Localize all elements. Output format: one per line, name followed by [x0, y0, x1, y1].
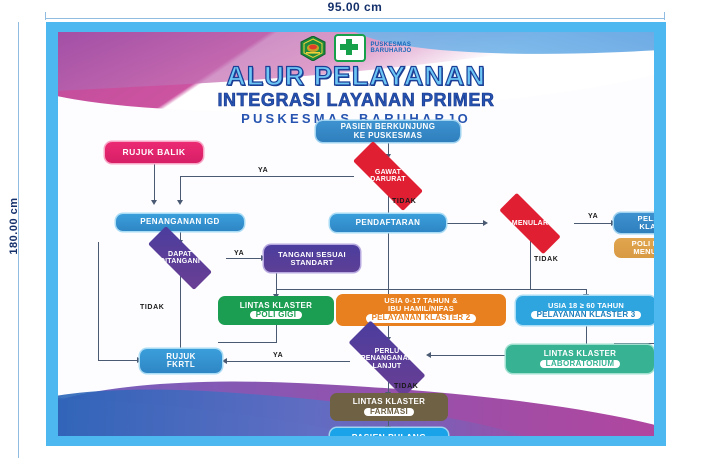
edge-label-ya-dapat: YA	[234, 250, 244, 257]
node-dapat-ditangani-line1: DAPAT	[160, 251, 200, 258]
node-tangani-sesuai-line2: STANDART	[290, 259, 333, 267]
poster-title-main: ALUR PELAYANAN	[58, 61, 654, 92]
node-pelayanan-klaster3[interactable]: USIA 18 ≥ 60 TAHUN PELAYANAN KLASTER 3	[516, 296, 654, 325]
node-lintas-klaster-farmasi[interactable]: LINTAS KLASTER FARMASI	[330, 393, 448, 421]
node-pelayanan-klaster4-line2: KLASTER 4	[639, 223, 654, 231]
node-dapat-ditangani[interactable]: DAPAT DITANGANI	[134, 240, 226, 276]
poster-header: PUSKESMAS BARUHARJO ALUR PELAYANAN INTEG…	[58, 34, 654, 126]
node-farmasi-pill: FARMASI	[364, 408, 414, 416]
node-tangani-sesuai-standart[interactable]: TANGANI SESUAI STANDART	[264, 245, 360, 272]
edge-poli-gigi-down	[276, 325, 277, 343]
edge-distribution-bar	[276, 289, 586, 290]
node-dapat-ditangani-label: DAPAT DITANGANI	[160, 251, 200, 266]
node-perlu-penanganan-lanjut[interactable]: PERLU PENANGANAN LANJUT	[332, 337, 442, 381]
node-penanganan-igd-label: PENANGANAN IGD	[140, 218, 219, 226]
edge-label-tidak-gawat: TIDAK	[392, 198, 416, 205]
ruler-left-bar	[18, 22, 19, 458]
node-klaster2-pill: PELAYANAN KLASTER 2	[366, 314, 477, 322]
edge-gawat-ya-horizontal	[180, 176, 354, 177]
ruler-top-tick-left	[45, 12, 46, 20]
node-pasien-pulang[interactable]: PASIEN PULANG	[330, 428, 448, 436]
node-rujuk-fkrtl[interactable]: RUJUK FKRTL	[140, 349, 222, 373]
node-penanganan-igd[interactable]: PENANGANAN IGD	[116, 214, 244, 231]
edge-left-bus-vertical	[98, 242, 99, 361]
logo-text: PUSKESMAS BARUHARJO	[370, 42, 411, 55]
node-rujuk-fkrtl-line2: FKRTL	[167, 361, 195, 369]
node-rujuk-balik[interactable]: RUJUK BALIK	[105, 142, 203, 163]
poster-canvas: PUSKESMAS BARUHARJO ALUR PELAYANAN INTEG…	[58, 32, 654, 436]
ruler-top: 95.00 cm	[45, 0, 665, 24]
arrow-gawat-ya-to-igd	[177, 200, 183, 205]
green-cross-icon	[334, 34, 366, 62]
ruler-left: 180.00 cm	[0, 22, 24, 458]
node-perlu-line2: PENANGANAN	[361, 355, 413, 362]
node-gawat-darurat-label: GAWAT DARURAT	[370, 169, 406, 184]
node-lintas-klaster-gigi-label: LINTAS KLASTER	[240, 302, 313, 310]
edge-left-bus-to-rujuk	[98, 360, 140, 361]
node-pelayanan-klaster2[interactable]: USIA 0-17 TAHUN & IBU HAMIL/NIFAS PELAYA…	[336, 294, 506, 326]
node-perlu-line3: LANJUT	[361, 363, 413, 370]
node-klaster3-line1: USIA 18 ≥ 60 TAHUN	[548, 302, 624, 310]
edge-menular-tidak-down	[530, 241, 531, 290]
node-menular[interactable]: MENULAR	[486, 206, 574, 241]
node-gawat-darurat-line1: GAWAT	[370, 169, 406, 176]
node-klaster2-line2: IBU HAMIL/NIFAS	[388, 305, 454, 313]
arrow-perlu-ya-to-rujuk	[222, 358, 227, 364]
regional-emblem-logo	[300, 36, 326, 61]
node-perlu-penanganan-label: PERLU PENANGANAN LANJUT	[361, 348, 413, 370]
node-poli-penyakit-menular[interactable]: POLI PENYAKIT MENULAR / TB	[614, 238, 654, 258]
edge-pendaftaran-to-menular	[445, 223, 486, 224]
node-klaster3-pill: PELAYANAN KLASTER 3	[531, 311, 642, 319]
edge-pendaftaran-down	[388, 232, 389, 290]
edge-label-ya-perlu: YA	[273, 352, 283, 359]
edge-gawat-ya-down	[180, 176, 181, 202]
node-lintas-klaster-farmasi-label: LINTAS KLASTER	[353, 398, 426, 406]
edge-dapat-tidak-down	[180, 276, 181, 350]
node-menular-label: MENULAR	[512, 220, 548, 227]
node-laboratorium-pill: LABORATORIUM	[540, 360, 621, 368]
edge-label-tidak-dapat: TIDAK	[140, 304, 164, 311]
edge-tangani-down	[276, 272, 277, 289]
decorative-swoosh-bottom-blue	[58, 379, 560, 436]
edge-menular-ya	[574, 223, 614, 224]
arrow-rujuk-balik-to-igd	[151, 200, 157, 205]
node-perlu-line1: PERLU	[361, 348, 413, 355]
node-pasien-pulang-label: PASIEN PULANG	[352, 433, 426, 436]
edge-label-ya-menular: YA	[588, 213, 598, 220]
node-lintas-klaster-laboratorium[interactable]: LINTAS KLASTER LABORATORIUM	[506, 345, 654, 373]
node-pasien-berkunjung-line2: KE PUSKESMAS	[354, 132, 423, 140]
node-lintas-klaster-poli-gigi[interactable]: LINTAS KLASTER POLI GIGI	[218, 296, 334, 325]
ruler-top-bar	[45, 18, 665, 19]
node-pelayanan-klaster4[interactable]: PELAYANAN KLASTER 4	[614, 213, 654, 233]
puskesmas-cross-logo: PUSKESMAS BARUHARJO	[334, 34, 411, 62]
poster-frame: PUSKESMAS BARUHARJO ALUR PELAYANAN INTEG…	[46, 22, 666, 446]
edge-label-ya-gawat: YA	[258, 167, 268, 174]
edge-rujuk-balik-to-igd	[154, 163, 155, 202]
node-poli-penyakit-menular-line2: MENULAR / TB	[633, 248, 654, 256]
node-dapat-ditangani-line2: DITANGANI	[160, 258, 200, 265]
node-gawat-darurat[interactable]: GAWAT DARURAT	[338, 156, 438, 196]
edge-dapat-ya	[226, 258, 264, 259]
node-gawat-darurat-line2: DARURAT	[370, 176, 406, 183]
edge-poli-gigi-to-bus	[218, 342, 277, 343]
node-rujuk-balik-label: RUJUK BALIK	[122, 148, 185, 157]
edge-label-tidak-perlu: TIDAK	[394, 383, 418, 390]
edge-label-tidak-menular: TIDAK	[534, 256, 558, 263]
node-lintas-klaster-lab-label: LINTAS KLASTER	[544, 350, 617, 358]
node-pasien-berkunjung[interactable]: PASIEN BERKUNJUNG KE PUSKESMAS	[316, 121, 460, 142]
ruler-top-label: 95.00 cm	[45, 0, 665, 14]
node-pendaftaran-label: PENDAFTARAN	[356, 219, 421, 227]
logo-text-line2: BARUHARJO	[370, 48, 411, 54]
node-poli-gigi-pill: POLI GIGI	[250, 311, 302, 319]
node-pendaftaran[interactable]: PENDAFTARAN	[330, 214, 446, 232]
poster-title-sub: INTEGRASI LAYANAN PRIMER	[58, 90, 654, 111]
logo-row: PUSKESMAS BARUHARJO	[58, 34, 654, 62]
ruler-top-tick-right	[664, 12, 665, 20]
